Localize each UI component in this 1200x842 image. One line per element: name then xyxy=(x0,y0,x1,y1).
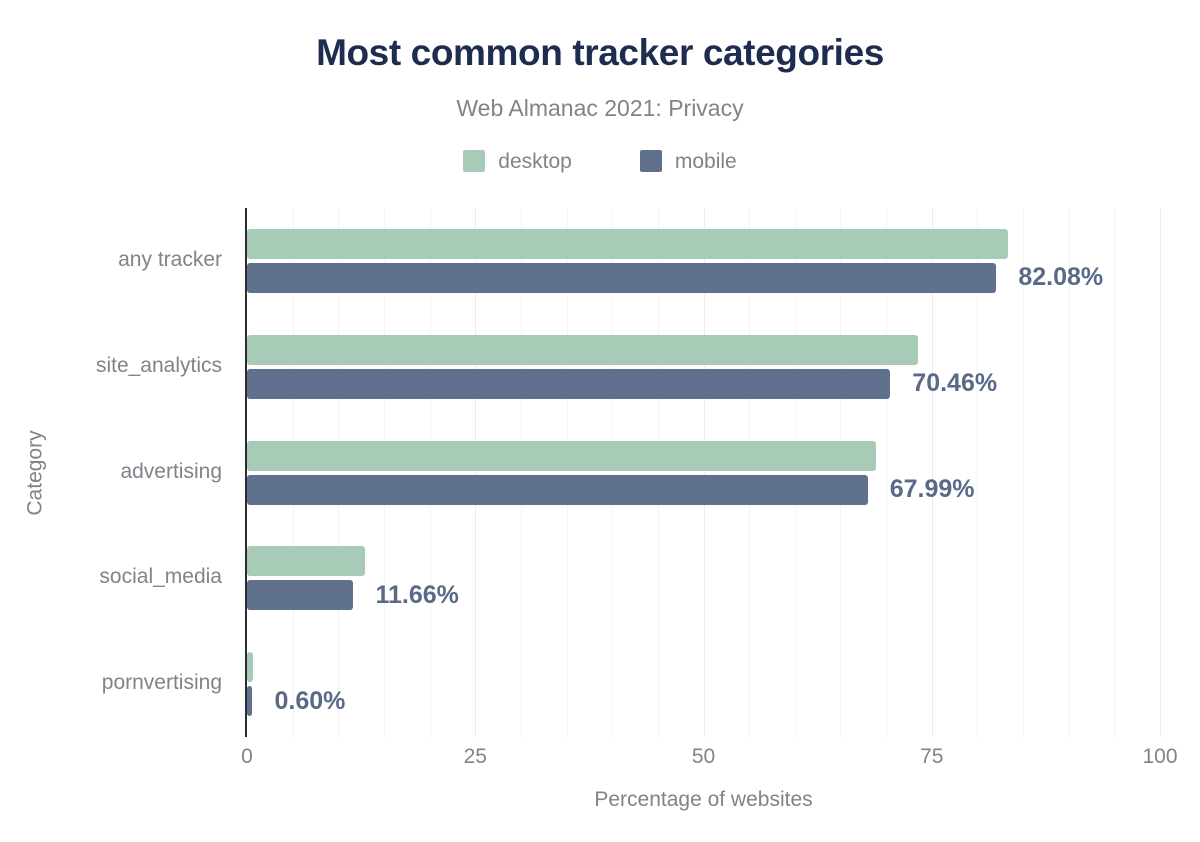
x-axis-tick-25: 25 xyxy=(464,745,487,769)
bar-desktop-site_analytics[interactable] xyxy=(247,335,918,365)
chart-subtitle: Web Almanac 2021: Privacy xyxy=(0,95,1200,122)
legend-swatch-mobile xyxy=(640,150,662,172)
chart-title: Most common tracker categories xyxy=(0,34,1200,73)
data-label-social_media: 11.66% xyxy=(375,580,458,610)
x-axis-tick-75: 75 xyxy=(920,745,943,769)
legend-swatch-desktop xyxy=(463,150,485,172)
bar-group-advertising: 67.99% xyxy=(247,441,1160,505)
y-axis-tick-any tracker: any tracker xyxy=(0,248,222,272)
x-axis-tick-0: 0 xyxy=(241,745,253,769)
x-axis-title: Percentage of websites xyxy=(247,788,1160,812)
bar-mobile-pornvertising[interactable] xyxy=(247,686,252,716)
plot-area: 82.08%70.46%67.99%11.66%0.60% xyxy=(247,208,1160,737)
bar-desktop-any tracker[interactable] xyxy=(247,229,1008,259)
data-label-site_analytics: 70.46% xyxy=(912,369,997,399)
x-axis-tick-labels: 0255075100 xyxy=(247,745,1160,775)
legend-label-mobile: mobile xyxy=(675,151,737,172)
legend-label-desktop: desktop xyxy=(498,151,572,172)
y-axis-tick-labels: any trackersite_analyticsadvertisingsoci… xyxy=(0,208,232,737)
y-axis-tick-advertising: advertising xyxy=(0,460,222,484)
x-axis-tick-50: 50 xyxy=(692,745,715,769)
bar-group-pornvertising: 0.60% xyxy=(247,652,1160,716)
x-axis-tick-100: 100 xyxy=(1142,745,1177,769)
legend-item-mobile[interactable]: mobile xyxy=(640,150,737,172)
bar-mobile-social_media[interactable] xyxy=(247,580,353,610)
bar-group-social_media: 11.66% xyxy=(247,546,1160,610)
legend-item-desktop[interactable]: desktop xyxy=(463,150,572,172)
bar-mobile-site_analytics[interactable] xyxy=(247,369,890,399)
y-axis-tick-site_analytics: site_analytics xyxy=(0,354,222,378)
bar-group-site_analytics: 70.46% xyxy=(247,335,1160,399)
bar-desktop-advertising[interactable] xyxy=(247,441,876,471)
gridline xyxy=(1160,208,1161,737)
data-label-pornvertising: 0.60% xyxy=(274,686,345,716)
bar-mobile-any tracker[interactable] xyxy=(247,263,996,293)
data-label-advertising: 67.99% xyxy=(890,475,975,505)
bar-desktop-pornvertising[interactable] xyxy=(247,652,253,682)
bar-group-any tracker: 82.08% xyxy=(247,229,1160,293)
y-axis-tick-pornvertising: pornvertising xyxy=(0,671,222,695)
bar-desktop-social_media[interactable] xyxy=(247,546,365,576)
y-axis-tick-social_media: social_media xyxy=(0,565,222,589)
bar-mobile-advertising[interactable] xyxy=(247,475,868,505)
chart-legend: desktopmobile xyxy=(0,150,1200,172)
data-label-any tracker: 82.08% xyxy=(1018,263,1103,293)
